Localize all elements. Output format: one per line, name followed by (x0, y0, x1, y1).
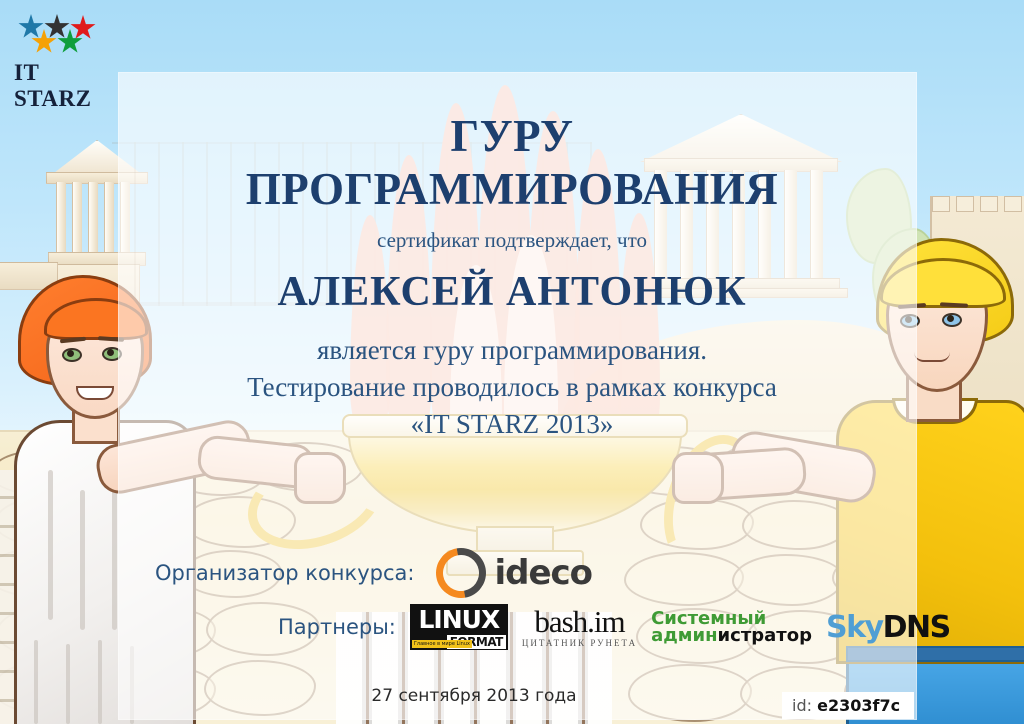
sysadmin-line2-black: истратор (718, 625, 812, 646)
organizer-label: Организатор конкурса: (155, 561, 414, 585)
linux-format-word: LINUX (418, 607, 499, 632)
recipient-name: АЛЕКСЕЙ АНТОНЮК (0, 268, 1024, 316)
ideco-logo: ideco (436, 548, 592, 598)
certificate-body-line1: является гуру программирования. (0, 335, 1024, 366)
certificate-subtitle: сертификат подтверждает, что (0, 228, 1024, 253)
organizer-row: Организатор конкурса: ideco (155, 548, 592, 598)
linux-format-tagline: Главное в мире Linux (412, 640, 472, 648)
sysadmin-logo: Системный администратор (651, 610, 812, 644)
star-icon (18, 14, 44, 40)
logo-wordmark: IT STARZ (14, 60, 114, 112)
skydns-dns: DNS (883, 610, 950, 645)
sysadmin-line2: администратор (651, 627, 812, 644)
ideco-ring-icon (427, 538, 497, 608)
certificate-date: 27 сентября 2013 года (336, 686, 612, 706)
certificate-id-label: id: (792, 696, 812, 715)
skydns-sky: Sky (826, 610, 883, 645)
star-icon (44, 14, 70, 40)
partners-label: Партнеры: (278, 615, 396, 639)
certificate-body-line2: Тестирование проводилось в рамках конкур… (0, 372, 1024, 403)
certificate-body-line3: «IT STARZ 2013» (0, 409, 1024, 440)
skydns-logo: SkyDNS (826, 610, 950, 645)
certificate-title-line1: ГУРУ (0, 110, 1024, 162)
bashim-logo: bash.im ЦИТАТНИК РУНЕТА (522, 606, 637, 648)
bashim-word: bash.im (534, 606, 624, 637)
certificate-id: id: e2303f7c (782, 692, 914, 719)
certificate-canvas: ГУРУ ПРОГРАММИРОВАНИЯ сертификат подтвер… (0, 0, 1024, 724)
certificate-id-value: e2303f7c (817, 696, 900, 715)
it-starz-logo: IT STARZ (14, 14, 114, 112)
star-icon (70, 15, 96, 41)
certificate-content: ГУРУ ПРОГРАММИРОВАНИЯ сертификат подтвер… (0, 0, 1024, 724)
partners-row: Партнеры: LINUX FORMAT Главное в мире Li… (278, 604, 950, 650)
logo-stars (14, 14, 114, 58)
linux-format-logo: LINUX FORMAT Главное в мире Linux (410, 604, 508, 650)
sysadmin-line2-green: админ (651, 625, 717, 646)
certificate-title-line2: ПРОГРАММИРОВАНИЯ (0, 163, 1024, 215)
ideco-wordmark: ideco (494, 553, 592, 593)
bashim-tagline: ЦИТАТНИК РУНЕТА (522, 639, 637, 648)
